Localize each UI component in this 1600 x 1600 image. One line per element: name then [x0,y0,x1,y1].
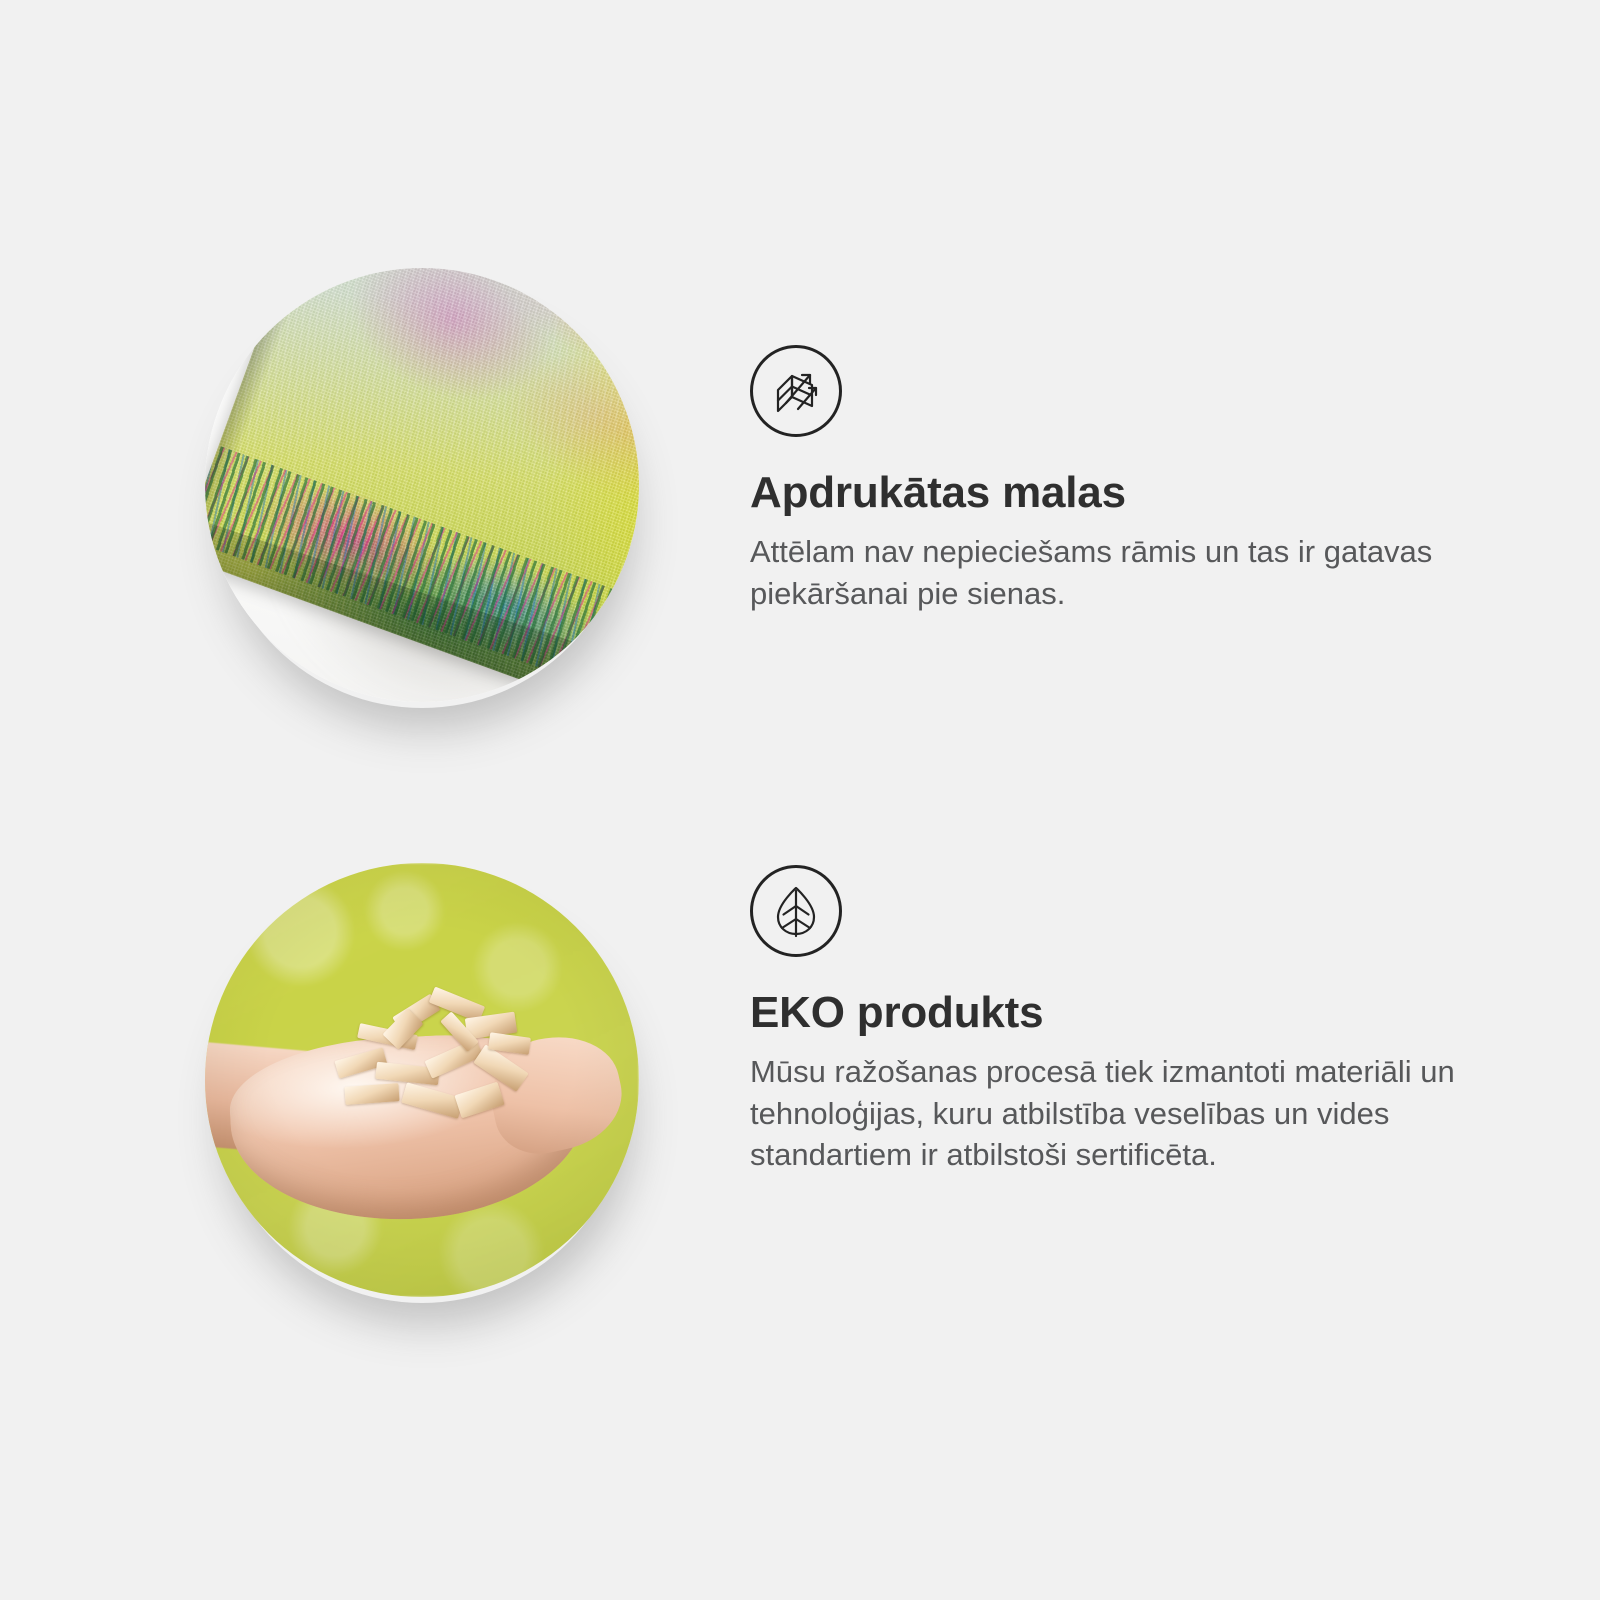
feature-title: EKO produkts [750,989,1480,1037]
leaf-icon [750,865,842,957]
feature-block-printed-edges: Apdrukātas malas Attēlam nav nepieciešam… [0,250,1600,720]
wood-chips-in-hands-photo [205,863,639,1297]
feature-content-eco-product: EKO produkts Mūsu ražošanas procesā tiek… [750,865,1480,1176]
feature-title: Apdrukātas malas [750,469,1480,517]
leaf-glyph [769,884,823,938]
product-features-page: Apdrukātas malas Attēlam nav nepieciešam… [0,0,1600,1600]
printed-edges-glyph [768,363,824,419]
canvas-corner-illustration [205,268,639,702]
feature-description: Mūsu ražošanas procesā tiek izmantoti ma… [750,1051,1470,1176]
feature-block-eco-product: EKO produkts Mūsu ražošanas procesā tiek… [0,845,1600,1315]
media-circle-mask [205,268,639,702]
feature-content-printed-edges: Apdrukātas malas Attēlam nav nepieciešam… [750,345,1480,614]
scene-vignette [205,863,639,1297]
media-circle-mask [205,863,639,1297]
eco-hands-illustration [205,863,639,1297]
printed-edges-icon [750,345,842,437]
feature-description: Attēlam nav nepieciešams rāmis un tas ir… [750,531,1470,614]
canvas-corner-photo [205,268,639,702]
